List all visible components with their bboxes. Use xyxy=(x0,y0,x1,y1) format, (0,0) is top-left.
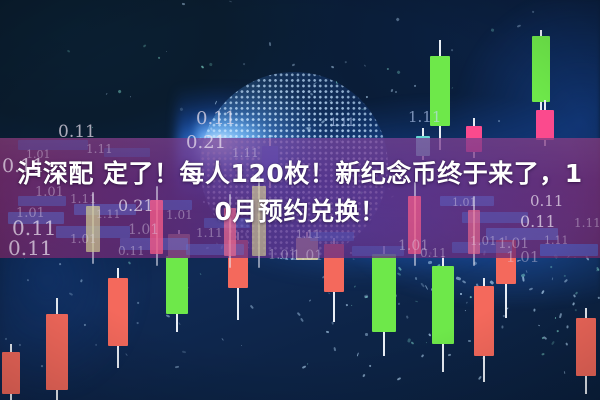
particle xyxy=(269,42,271,46)
candle-body xyxy=(166,256,188,314)
headline-line-2: 0月预约兑换！ xyxy=(8,193,592,231)
price-number: 0.11 xyxy=(420,246,447,260)
particle xyxy=(352,258,354,260)
candle-body xyxy=(108,278,128,346)
price-number: 1.01 xyxy=(506,248,539,266)
price-number: 0.11 xyxy=(196,108,236,129)
price-number: 1.01 xyxy=(70,232,97,246)
candlestick-red xyxy=(2,344,20,400)
candle-body xyxy=(576,318,596,376)
candle-body xyxy=(532,36,550,102)
candlestick-red xyxy=(108,268,128,368)
candle-body xyxy=(372,254,396,332)
headline-line-1: 泸深配 定了！每人120枚！新纪念币终于来了，1 xyxy=(8,155,592,193)
candlestick-red xyxy=(576,308,596,394)
price-number: 0.11 xyxy=(8,236,53,260)
price-number: 1.01 xyxy=(292,248,323,264)
candle-body xyxy=(432,266,454,344)
price-number: 0.11 xyxy=(58,122,96,142)
price-number: 1.01 xyxy=(470,234,497,248)
particle xyxy=(397,302,399,304)
promo-banner: 0.110.110.211.111.011.111.110.111.011.11… xyxy=(0,0,600,400)
candle-body xyxy=(474,286,494,356)
candlestick-green xyxy=(430,40,450,150)
candle-body xyxy=(536,110,554,140)
price-number: 1.11 xyxy=(408,108,441,126)
particle xyxy=(490,28,493,31)
price-number: 0.11 xyxy=(118,244,145,258)
candle-body xyxy=(46,314,68,390)
candle-body xyxy=(2,352,20,394)
candlestick-green xyxy=(372,246,396,356)
particle xyxy=(27,278,30,280)
particle xyxy=(182,3,185,5)
candlestick-green xyxy=(432,256,454,372)
candlestick-red xyxy=(46,298,68,400)
particle xyxy=(406,315,409,318)
candlestick-red xyxy=(474,278,494,382)
price-number: 1.11 xyxy=(544,234,569,247)
price-number: 1.11 xyxy=(330,116,355,129)
price-number: 0.21 xyxy=(186,132,226,153)
particle xyxy=(95,344,96,346)
page-title: 泸深配 定了！每人120枚！新纪念币终于来了，1 0月预约兑换！ xyxy=(0,155,600,231)
particle xyxy=(242,119,244,122)
price-number: 1.11 xyxy=(86,142,113,156)
